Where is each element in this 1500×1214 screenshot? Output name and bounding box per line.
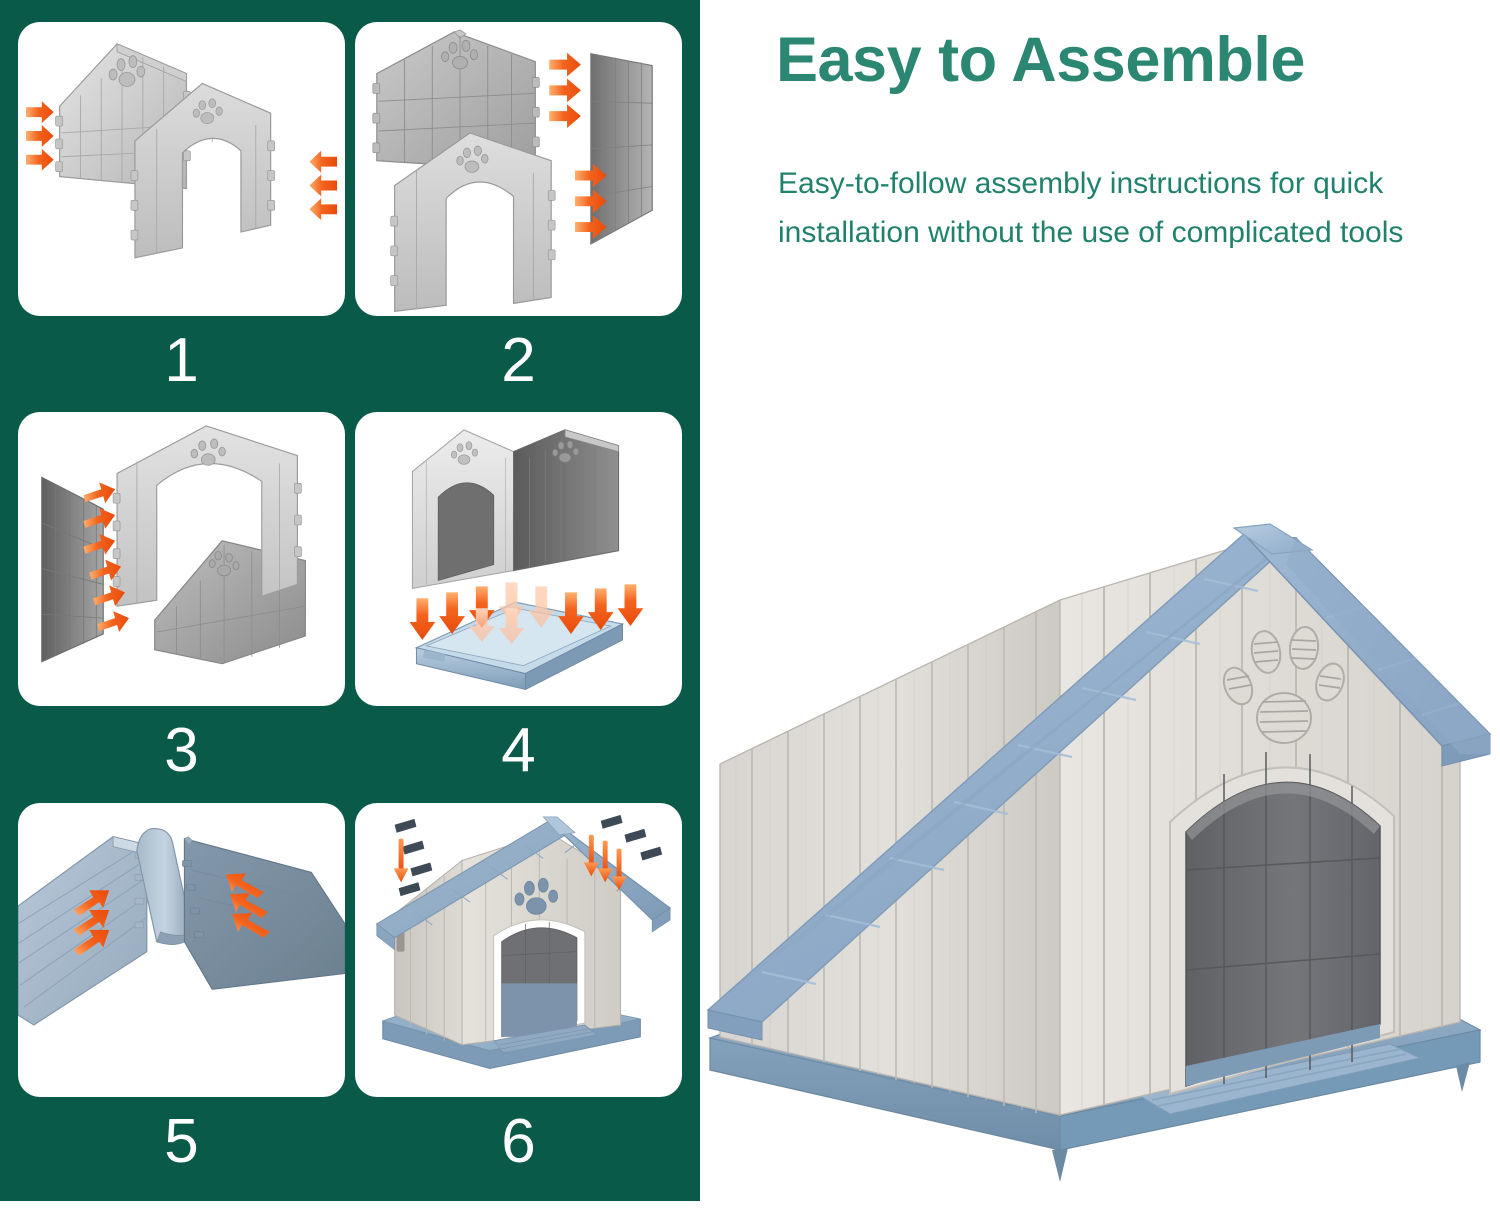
step-number-1: 1 bbox=[164, 330, 198, 392]
assembly-steps-panel: 1 bbox=[0, 0, 700, 1201]
arrow-group-left bbox=[26, 101, 54, 170]
step-card-2 bbox=[355, 22, 682, 316]
step-card-4 bbox=[355, 412, 682, 706]
arrow-group-right bbox=[309, 151, 337, 220]
finished-dog-house-icon bbox=[355, 803, 682, 1094]
step-number-3: 3 bbox=[164, 720, 198, 782]
step-card-6 bbox=[355, 803, 682, 1097]
step-cell-2: 2 bbox=[355, 22, 682, 412]
roof-panels-ridge-icon bbox=[18, 803, 345, 1094]
walls-onto-base-icon bbox=[355, 412, 682, 703]
arrow-group-upper bbox=[549, 53, 581, 128]
infographic-page: 1 bbox=[0, 0, 1500, 1214]
front-wall bbox=[1060, 536, 1460, 1115]
page-title: Easy to Assemble bbox=[776, 28, 1476, 92]
second-side-panel-attach-icon bbox=[18, 412, 345, 703]
page-subtitle: Easy-to-follow assembly instructions for… bbox=[778, 160, 1478, 257]
arrow-group-lower bbox=[575, 164, 607, 239]
step-cell-1: 1 bbox=[18, 22, 345, 412]
wall-panels-join-icon bbox=[18, 22, 345, 313]
hero-product-image bbox=[700, 510, 1500, 1210]
step-cell-3: 3 bbox=[18, 412, 345, 802]
step-number-6: 6 bbox=[501, 1111, 535, 1173]
step-number-2: 2 bbox=[501, 330, 535, 392]
step-card-5 bbox=[18, 803, 345, 1097]
step-cell-4: 4 bbox=[355, 412, 682, 802]
screw-group-left bbox=[394, 819, 433, 896]
step-cell-5: 5 bbox=[18, 803, 345, 1193]
step-card-1 bbox=[18, 22, 345, 316]
arched-doorway bbox=[1170, 752, 1394, 1094]
side-panel-attach-icon bbox=[355, 22, 682, 313]
step-number-5: 5 bbox=[164, 1111, 198, 1173]
plastic-dog-house bbox=[700, 510, 1500, 1210]
step-cell-6: 6 bbox=[355, 803, 682, 1193]
step-number-4: 4 bbox=[501, 720, 535, 782]
step-card-3 bbox=[18, 412, 345, 706]
